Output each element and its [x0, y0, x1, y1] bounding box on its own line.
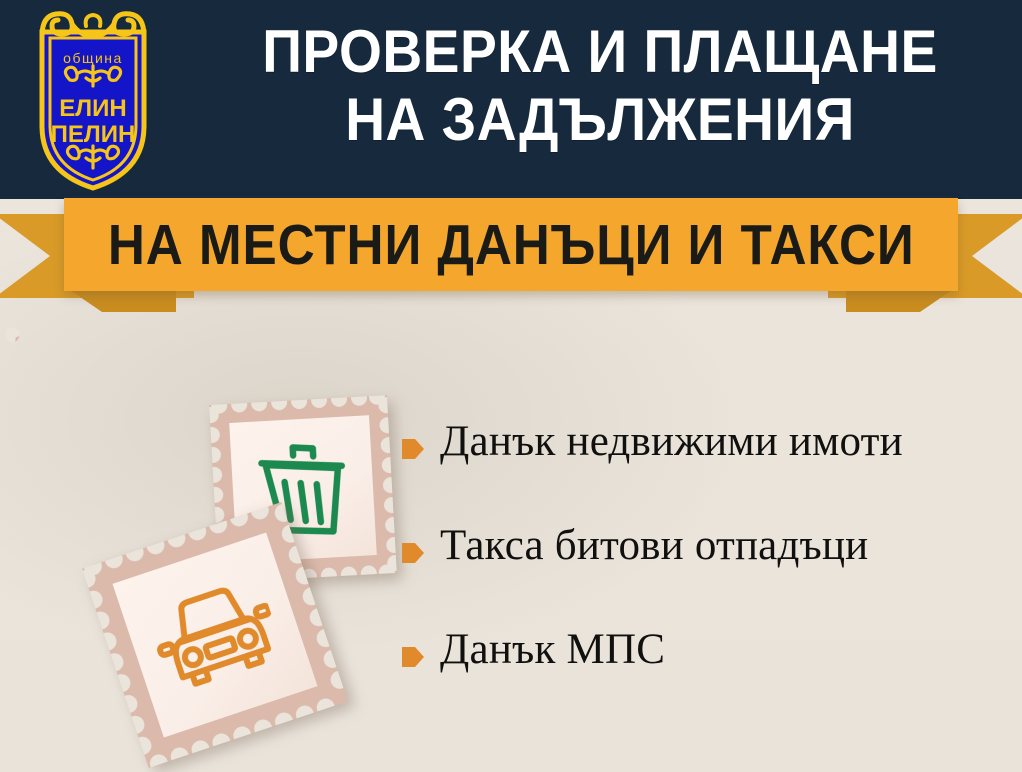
- poster-canvas: община ЕЛИН ПЕЛИН: [0, 0, 1022, 772]
- header-bar: община ЕЛИН ПЕЛИН: [0, 0, 1022, 199]
- list-item[interactable]: Данък МПС: [402, 628, 1012, 732]
- list-item-label: Такса битови отпадъци: [440, 524, 868, 567]
- ribbon-band: НА МЕСТНИ ДАНЪЦИ И ТАКСИ: [64, 198, 958, 291]
- list-item[interactable]: Такса битови отпадъци: [402, 524, 1012, 628]
- municipality-logo: община ЕЛИН ПЕЛИН: [18, 6, 168, 192]
- ribbon-banner: НА МЕСТНИ ДАНЪЦИ И ТАКСИ: [0, 198, 1022, 308]
- list-item-label: Данък недвижими имоти: [440, 420, 903, 463]
- page-title: ПРОВЕРКА И ПЛАЩАНЕ НА ЗАДЪЛЖЕНИЯ: [215, 18, 984, 154]
- logo-line-top: община: [63, 50, 123, 66]
- tax-type-list: Данък недвижими имоти Такса битови отпад…: [402, 420, 1012, 732]
- ribbon-label: НА МЕСТНИ ДАНЪЦИ И ТАКСИ: [108, 212, 915, 278]
- list-item[interactable]: Данък недвижими имоти: [402, 420, 1012, 524]
- stamp-inner-property: [29, 333, 204, 508]
- stamp-card-property: [5, 309, 228, 532]
- car-front-icon: [143, 570, 287, 699]
- list-item-label: Данък МПС: [440, 628, 665, 671]
- logo-line-main-1: ЕЛИН: [59, 95, 126, 122]
- stamp-inner-vehicle: [112, 532, 317, 737]
- house-icon: [53, 363, 178, 478]
- bullet-arrow-icon: [402, 436, 424, 462]
- bullet-arrow-icon: [402, 644, 424, 670]
- bullet-arrow-icon: [402, 540, 424, 566]
- logo-line-main-2: ПЕЛИН: [51, 121, 136, 148]
